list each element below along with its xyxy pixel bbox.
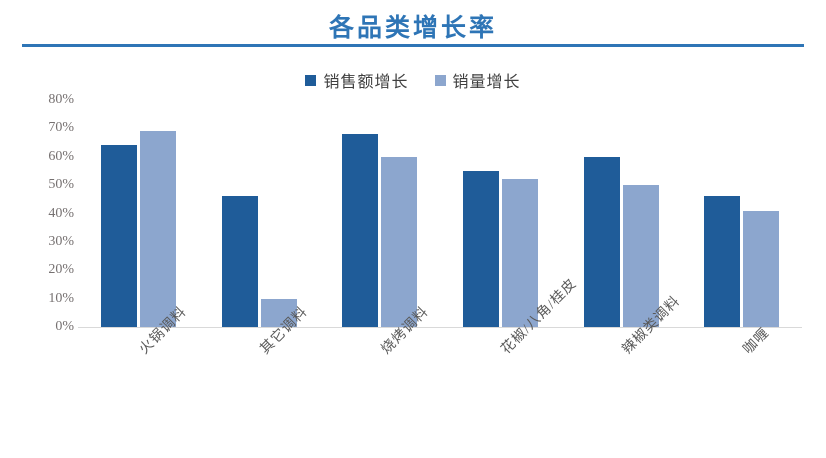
chart-title-block: 各品类增长率 (0, 0, 826, 52)
y-axis-tick-label: 20% (18, 262, 74, 278)
bar[interactable] (463, 171, 499, 327)
x-axis-category: 火锅调料 (78, 340, 199, 450)
bar-group (78, 100, 199, 327)
bar[interactable] (743, 211, 779, 327)
x-axis-category: 咖喱 (681, 340, 802, 450)
y-axis-tick-label: 40% (18, 206, 74, 222)
plot-area (78, 100, 802, 340)
chart-legend: 销售额增长销量增长 (0, 68, 826, 92)
bar[interactable] (101, 145, 137, 327)
x-axis-category-labels: 火锅调料其它调料烧烤调料花椒/八角/桂皮辣椒类调料咖喱 (78, 340, 802, 450)
y-axis-tick-label: 70% (18, 120, 74, 136)
x-axis-category: 辣椒类调料 (561, 340, 682, 450)
bar[interactable] (342, 134, 378, 327)
legend-item-0[interactable]: 销售额增长 (305, 68, 408, 92)
x-axis-category: 烧烤调料 (319, 340, 440, 450)
y-axis-tick-label: 80% (18, 92, 74, 108)
bar-group (199, 100, 320, 327)
x-axis-category: 其它调料 (199, 340, 320, 450)
bar-group (681, 100, 802, 327)
legend-swatch-icon (435, 75, 446, 86)
bar-group (319, 100, 440, 327)
bar-group (561, 100, 682, 327)
y-axis-tick-label: 0% (18, 319, 74, 335)
growth-rate-bar-chart: 各品类增长率 销售额增长销量增长 80%70%60%50%40%30%20%10… (0, 0, 826, 458)
x-axis-baseline (78, 327, 802, 328)
y-axis-tick-label: 60% (18, 149, 74, 165)
legend-swatch-icon (305, 75, 316, 86)
page-title: 各品类增长率 (0, 8, 826, 44)
title-divider (22, 44, 804, 47)
y-axis-tick-label: 30% (18, 234, 74, 250)
bar-groups (78, 100, 802, 327)
bar[interactable] (222, 196, 258, 327)
y-axis-tick-label: 10% (18, 291, 74, 307)
bar[interactable] (584, 157, 620, 327)
bar[interactable] (623, 185, 659, 327)
y-axis-tick-label: 50% (18, 177, 74, 193)
bar-group (440, 100, 561, 327)
bar[interactable] (140, 131, 176, 327)
bar[interactable] (381, 157, 417, 327)
plot-wrapper: 80%70%60%50%40%30%20%10%0% (0, 100, 826, 340)
legend-label: 销量增长 (453, 68, 521, 92)
legend-label: 销售额增长 (323, 68, 408, 92)
legend-item-1[interactable]: 销量增长 (435, 68, 521, 92)
bar[interactable] (502, 179, 538, 327)
bar[interactable] (704, 196, 740, 327)
x-axis-category: 花椒/八角/桂皮 (440, 340, 561, 450)
y-axis: 80%70%60%50%40%30%20%10%0% (18, 100, 74, 340)
